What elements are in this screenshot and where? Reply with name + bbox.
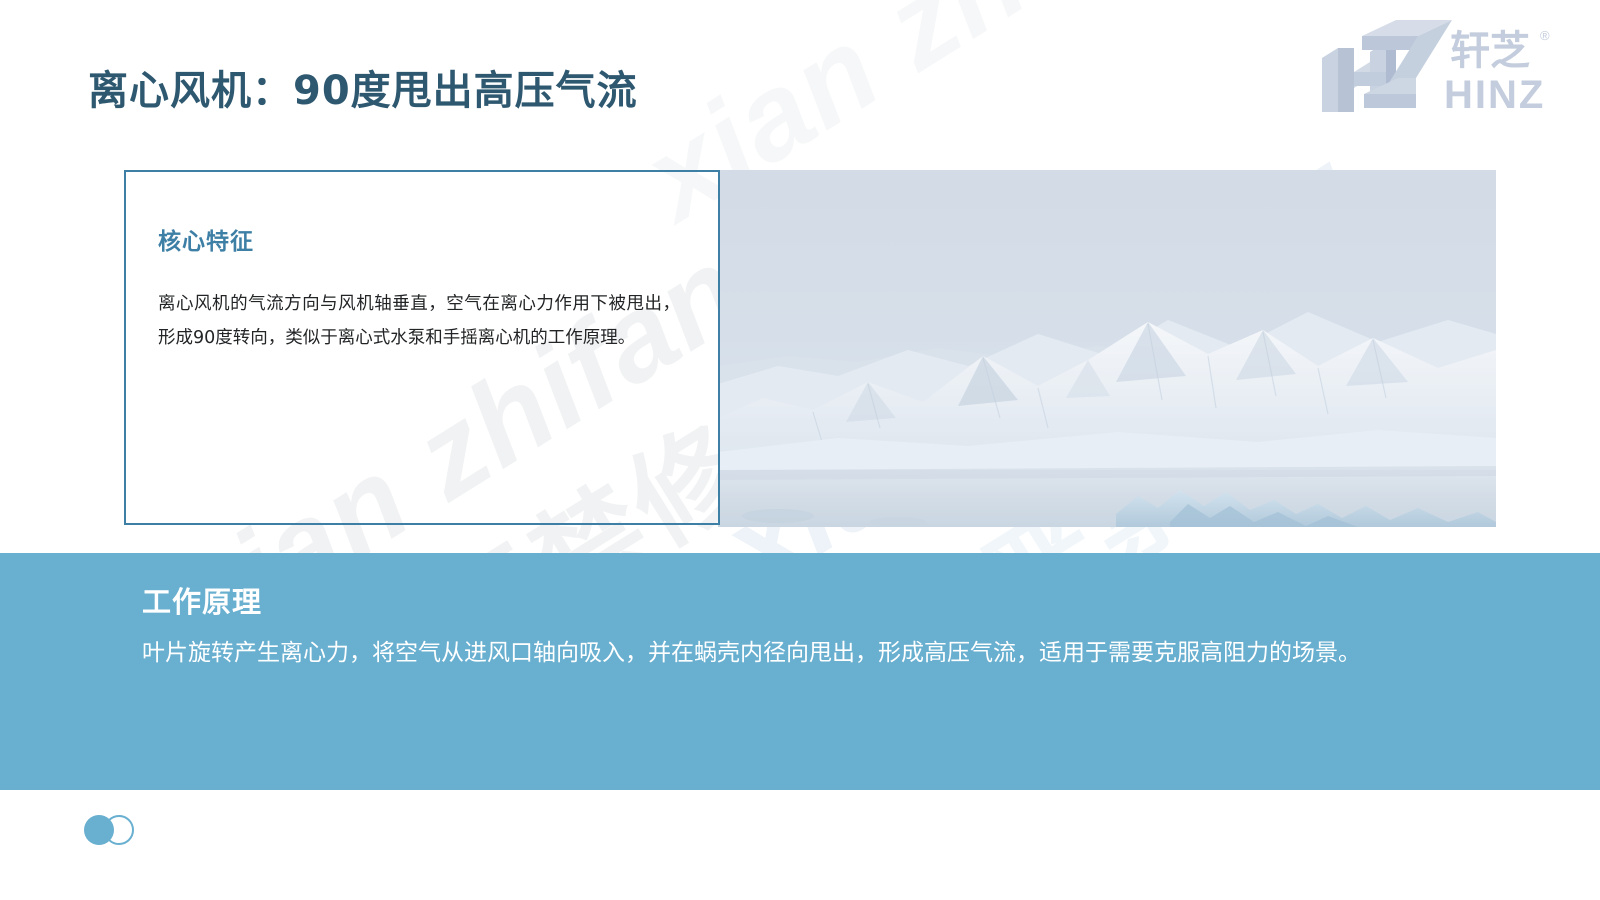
pagination-indicator[interactable] [84, 815, 154, 847]
photo-illustration [718, 170, 1496, 527]
working-principle-heading: 工作原理 [142, 579, 262, 621]
snow-mountain-photo [718, 170, 1496, 527]
working-principle-band: 工作原理 叶片旋转产生离心力，将空气从进风口轴向吸入，并在蜗壳内径向甩出，形成高… [0, 553, 1600, 790]
core-feature-card: 核心特征 离心风机的气流方向与风机轴垂直，空气在离心力作用下被甩出，形成90度转… [124, 170, 720, 525]
brand-cn-text: 轩芝 [1450, 28, 1530, 74]
brand-logo: 轩芝 ® HINZ [1304, 16, 1572, 120]
core-feature-body: 离心风机的气流方向与风机轴垂直，空气在离心力作用下被甩出，形成90度转向，类似于… [158, 287, 680, 355]
pagination-dot-active[interactable] [84, 815, 114, 845]
hinz-logo-icon: 轩芝 ® HINZ [1304, 16, 1572, 120]
registered-mark-icon: ® [1540, 28, 1550, 43]
hz-monogram-icon [1322, 20, 1452, 112]
page-title: 离心风机：90度甩出高压气流 [88, 58, 638, 116]
brand-en-text: HINZ [1444, 73, 1545, 117]
working-principle-body: 叶片旋转产生离心力，将空气从进风口轴向吸入，并在蜗壳内径向甩出，形成高压气流，适… [142, 632, 1460, 674]
core-feature-heading: 核心特征 [158, 222, 254, 256]
slide-canvas: 工作原理 叶片旋转产生离心力，将空气从进风口轴向吸入，并在蜗壳内径向甩出，形成高… [0, 0, 1600, 900]
